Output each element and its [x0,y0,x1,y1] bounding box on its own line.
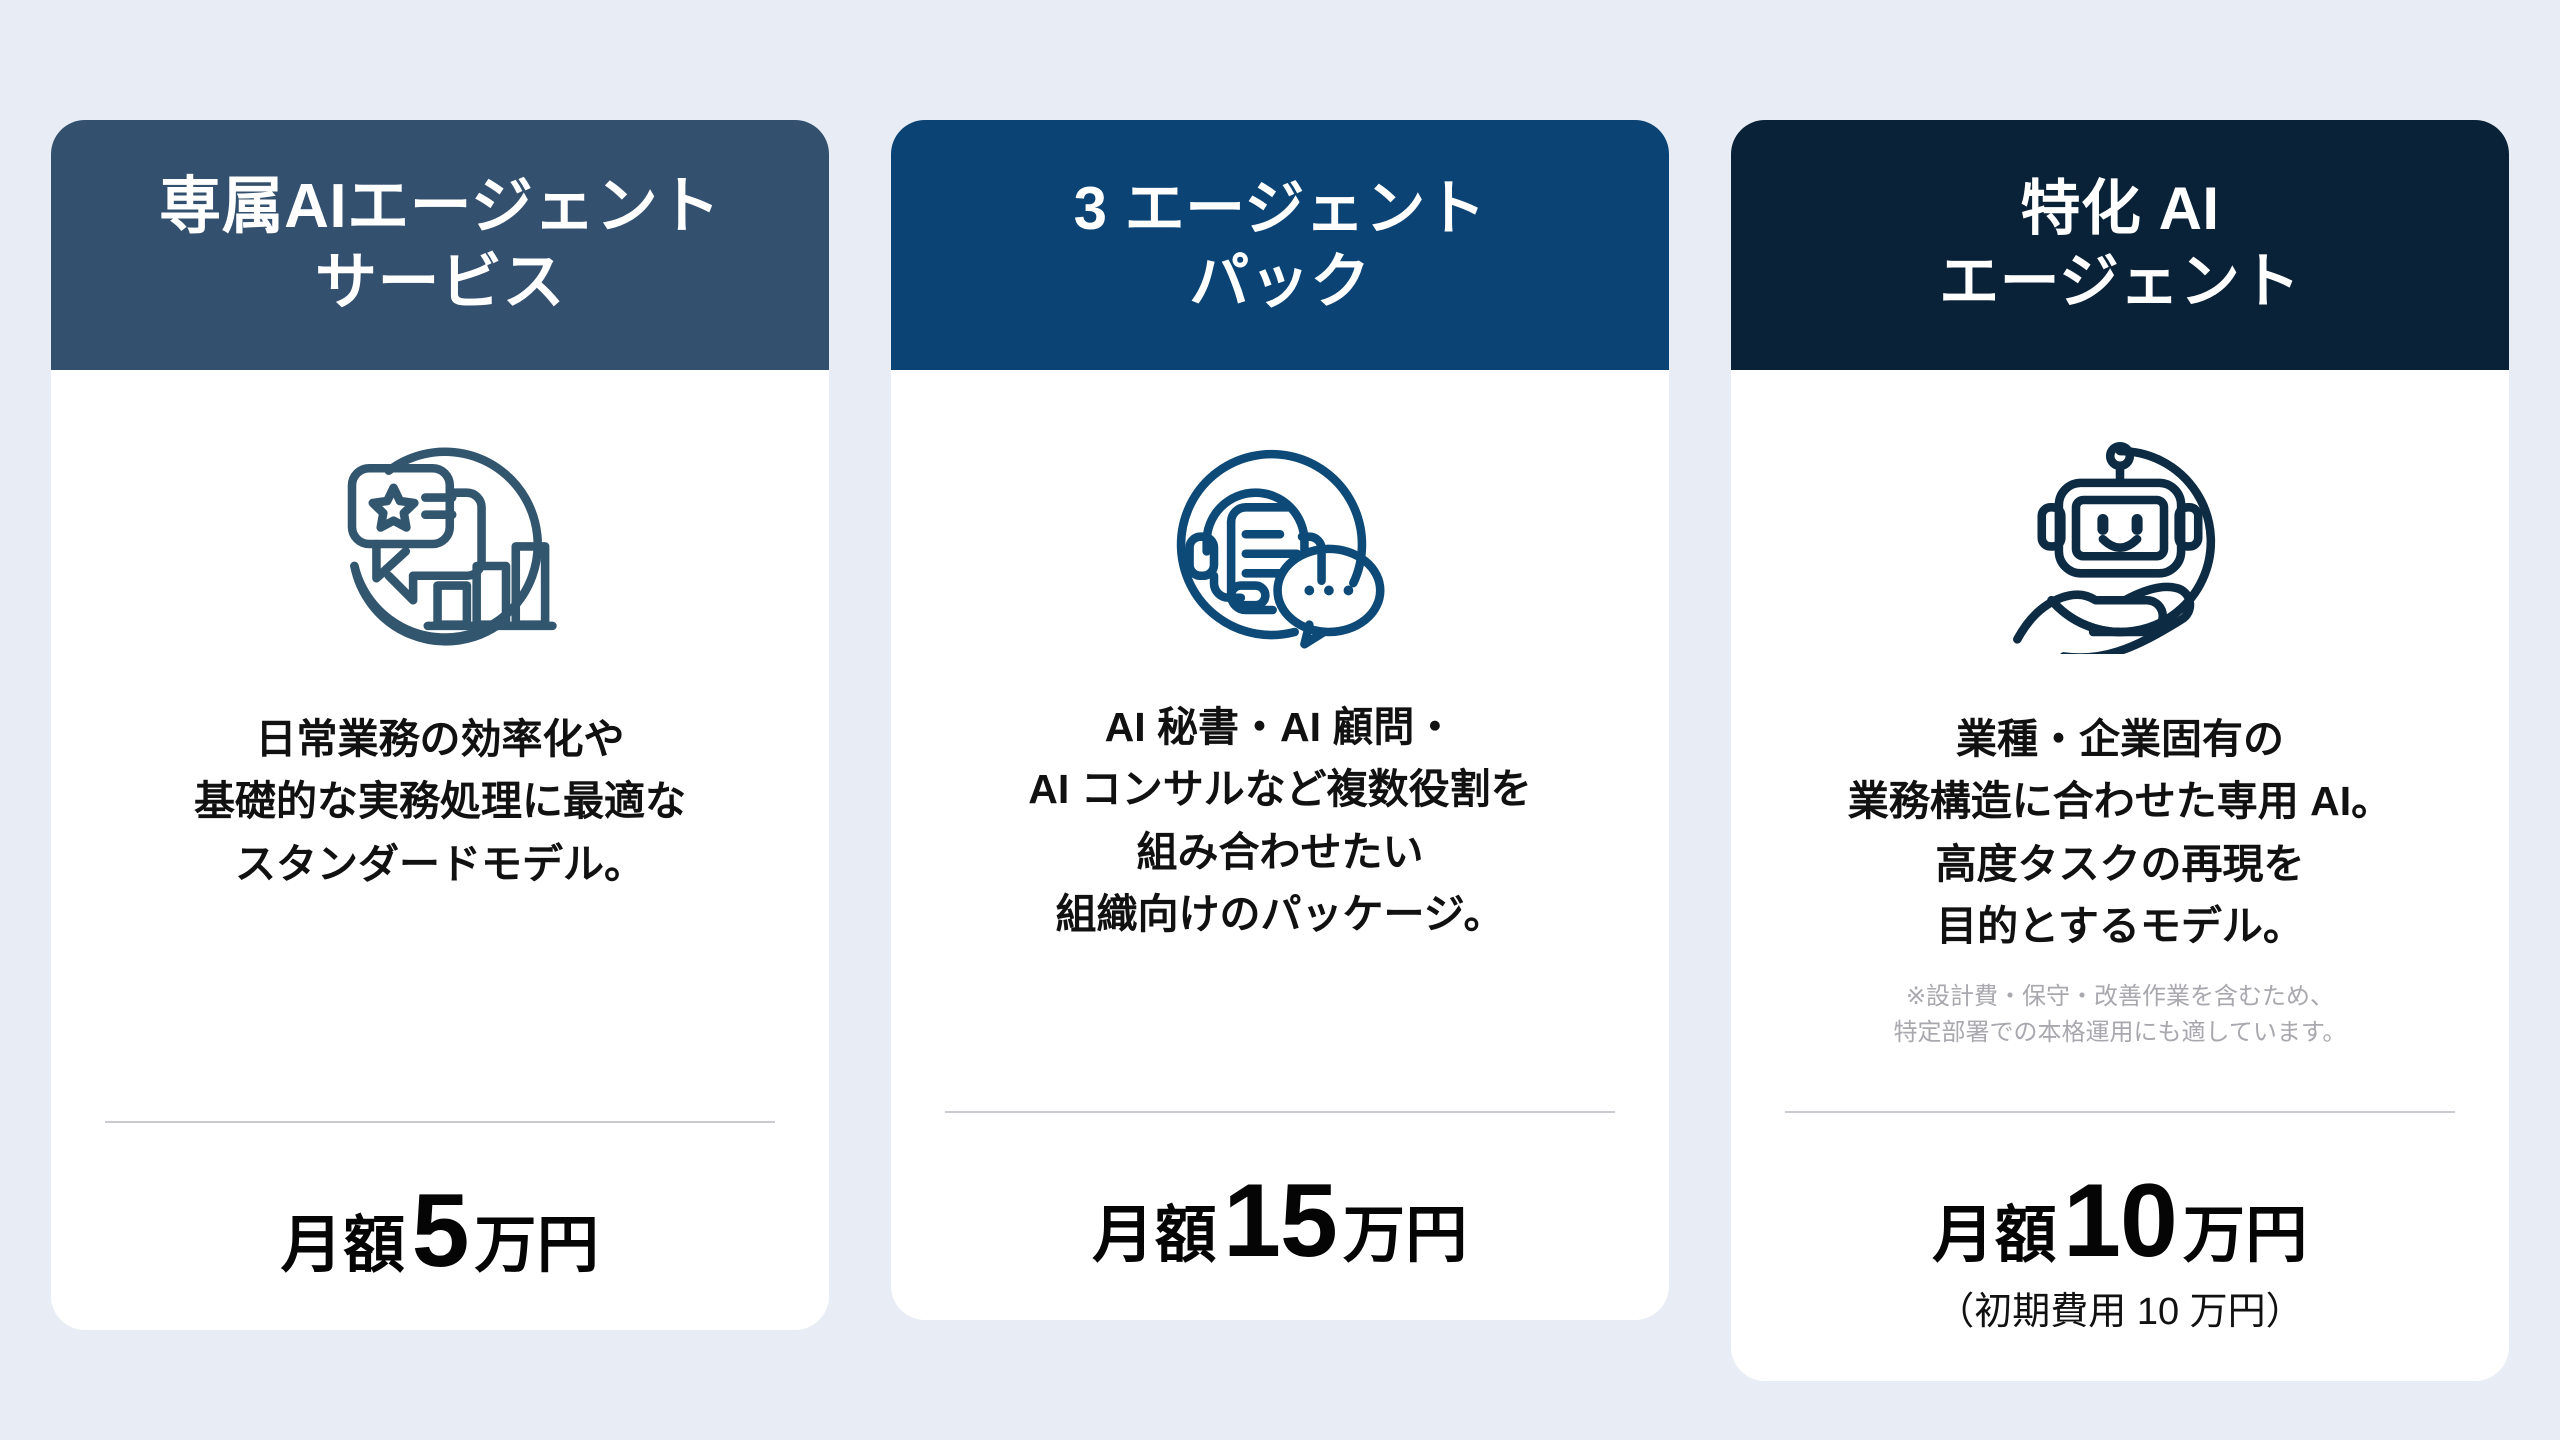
robot-in-hand-icon [1986,434,2254,654]
price-line-standard: 月額 5 万円 [281,1179,600,1284]
card-header-standard: 専属AIエージェント サービス [51,120,829,370]
price-suffix: 万円 [1343,1184,1468,1274]
card-body-standard: 日常業務の効率化や 基礎的な実務処理に最適な スタンダードモデル。 月額 5 万… [51,370,829,1330]
card-note-special: ※設計費・保守・改善作業を含むため、 特定部署での本格運用にも適しています。 [1894,979,2347,1051]
price-line-special: 月額 10 万円 [1932,1169,2308,1274]
card-title-pack: 3 エージェント パック [1074,172,1487,318]
card-body-special: 業種・企業固有の 業務構造に合わせた専用 AI。 高度タスクの再現を 目的とする… [1731,370,2509,1381]
price-block-special: 月額 10 万円 （初期費用 10 万円） [1785,1113,2455,1335]
card-description-special: 業種・企業固有の 業務構造に合わせた専用 AI。 高度タスクの再現を 目的とする… [1848,708,2392,957]
pricing-card-special[interactable]: 特化 AI エージェント [1731,120,2509,1381]
price-initial-fee-note: （初期費用 10 万円） [1936,1280,2303,1335]
review-chat-bar-chart-icon [306,434,574,654]
card-description-pack: AI 秘書・AI 顧問・ AI コンサルなど複数役割を 組み合わせたい 組織向け… [1028,696,1531,945]
price-block-standard: 月額 5 万円 [105,1123,775,1284]
price-prefix: 月額 [1932,1184,2057,1274]
card-description-standard: 日常業務の効率化や 基礎的な実務処理に最適な スタンダードモデル。 [194,708,686,895]
price-amount: 15 [1217,1169,1343,1273]
pricing-card-pack[interactable]: 3 エージェント パック [891,120,1669,1320]
card-body-pack: AI 秘書・AI 顧問・ AI コンサルなど複数役割を 組み合わせたい 組織向け… [891,370,1669,1320]
price-amount: 5 [406,1179,475,1283]
pricing-card-standard[interactable]: 専属AIエージェント サービス [51,120,829,1330]
price-block-pack: 月額 15 万円 [945,1113,1615,1274]
card-title-standard: 専属AIエージェント サービス [159,169,721,320]
headset-document-chat-icon [1146,434,1414,654]
price-amount: 10 [2057,1169,2183,1273]
card-header-pack: 3 エージェント パック [891,120,1669,370]
price-suffix: 万円 [474,1194,599,1284]
price-prefix: 月額 [281,1194,406,1284]
price-suffix: 万円 [2183,1184,2308,1274]
card-header-special: 特化 AI エージェント [1731,120,2509,370]
price-line-pack: 月額 15 万円 [1092,1169,1468,1274]
card-title-special: 特化 AI エージェント [1939,172,2301,318]
pricing-cards-board: 専属AIエージェント サービス [0,0,2560,1440]
price-prefix: 月額 [1092,1184,1217,1274]
